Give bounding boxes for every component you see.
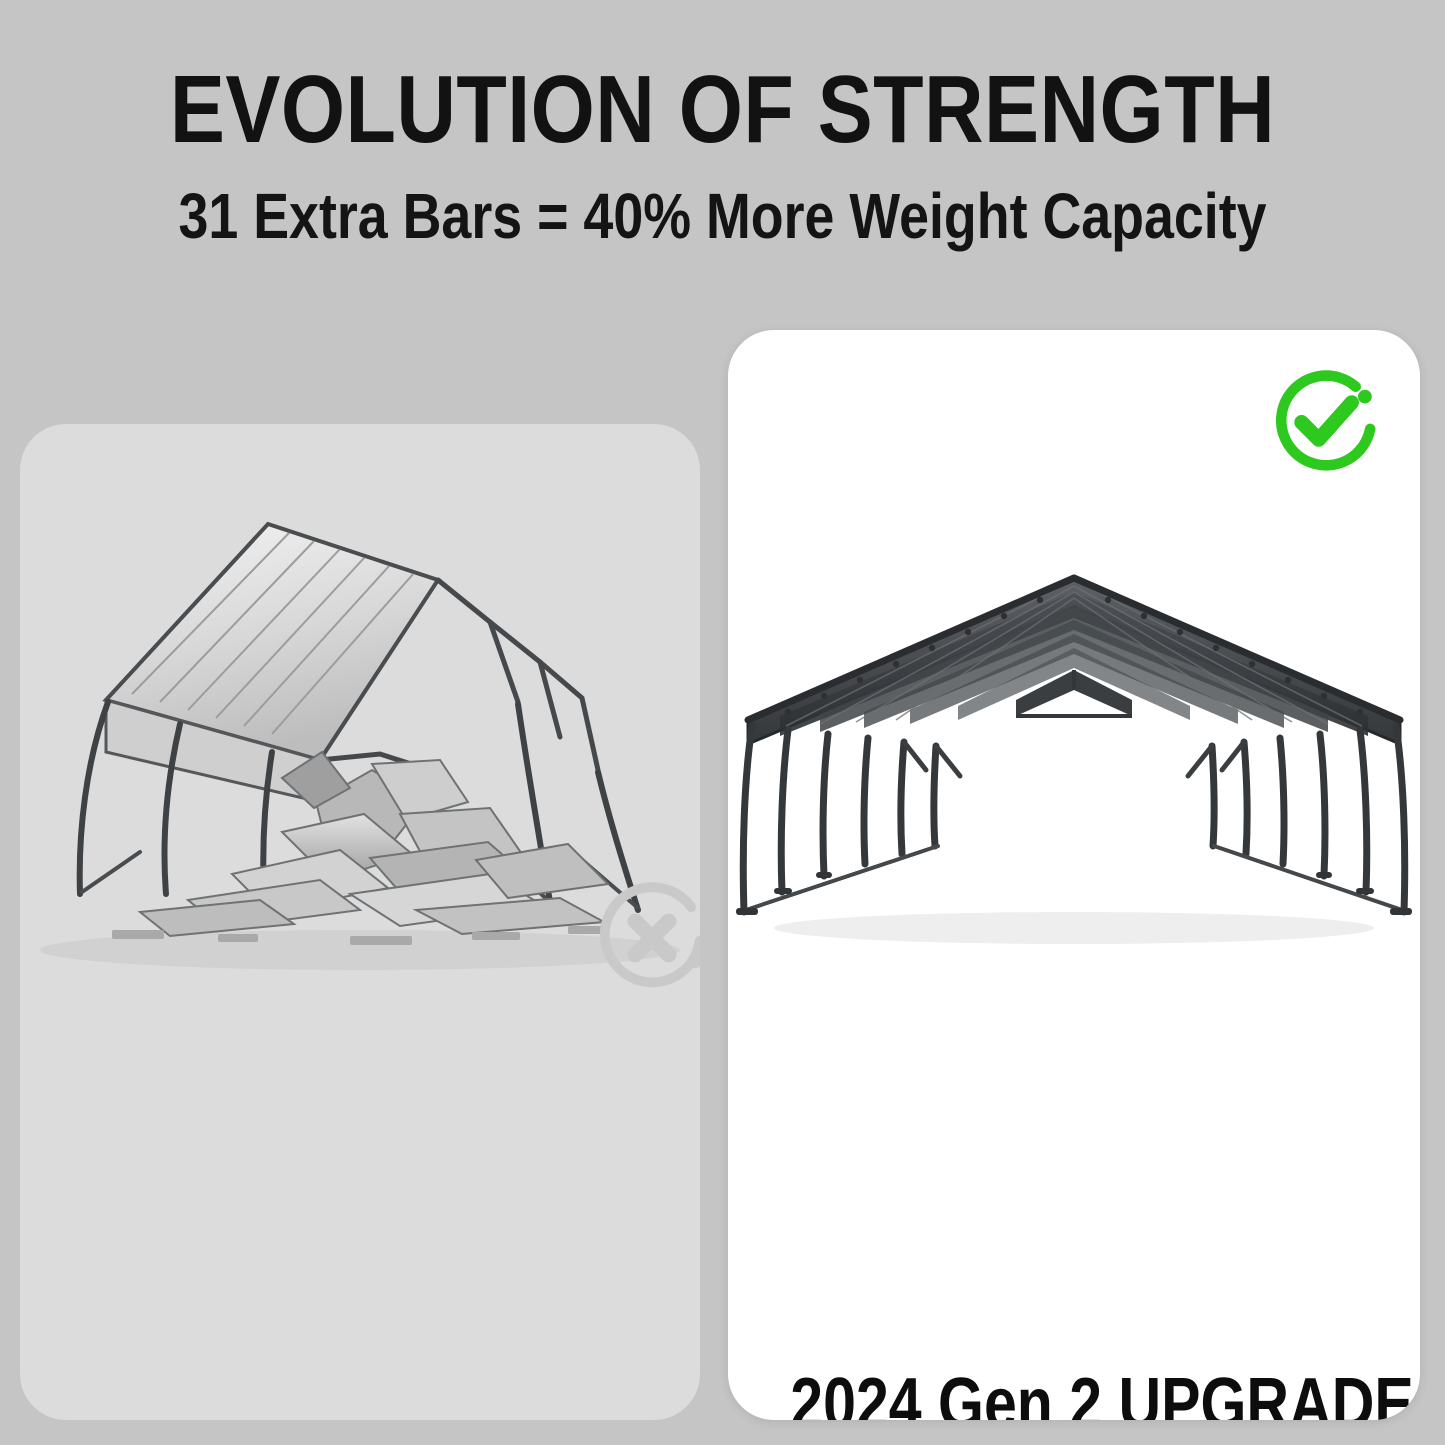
page-title: EVOLUTION OF STRENGTH bbox=[101, 0, 1344, 158]
page-subtitle: 31 Extra Bars = 40% More Weight Capacity bbox=[116, 158, 1330, 248]
card-heading-gen2: 2024 Gen 2 UPGRADE bbox=[790, 1368, 1357, 1420]
comparison-card-gen2: 2024 Gen 2 UPGRADE EASYHAWK Gen 2（31 Ext… bbox=[728, 330, 1420, 1420]
gen2-carport-image bbox=[728, 530, 1420, 970]
circle-check-icon bbox=[1258, 355, 1390, 487]
header: EVOLUTION OF STRENGTH 31 Extra Bars = 40… bbox=[0, 0, 1445, 248]
comparison-card-gen1: 2015 Gen 1 Frame Basic Frame (5 Bars) Ho… bbox=[20, 424, 700, 1420]
circle-x-icon bbox=[582, 868, 700, 1008]
